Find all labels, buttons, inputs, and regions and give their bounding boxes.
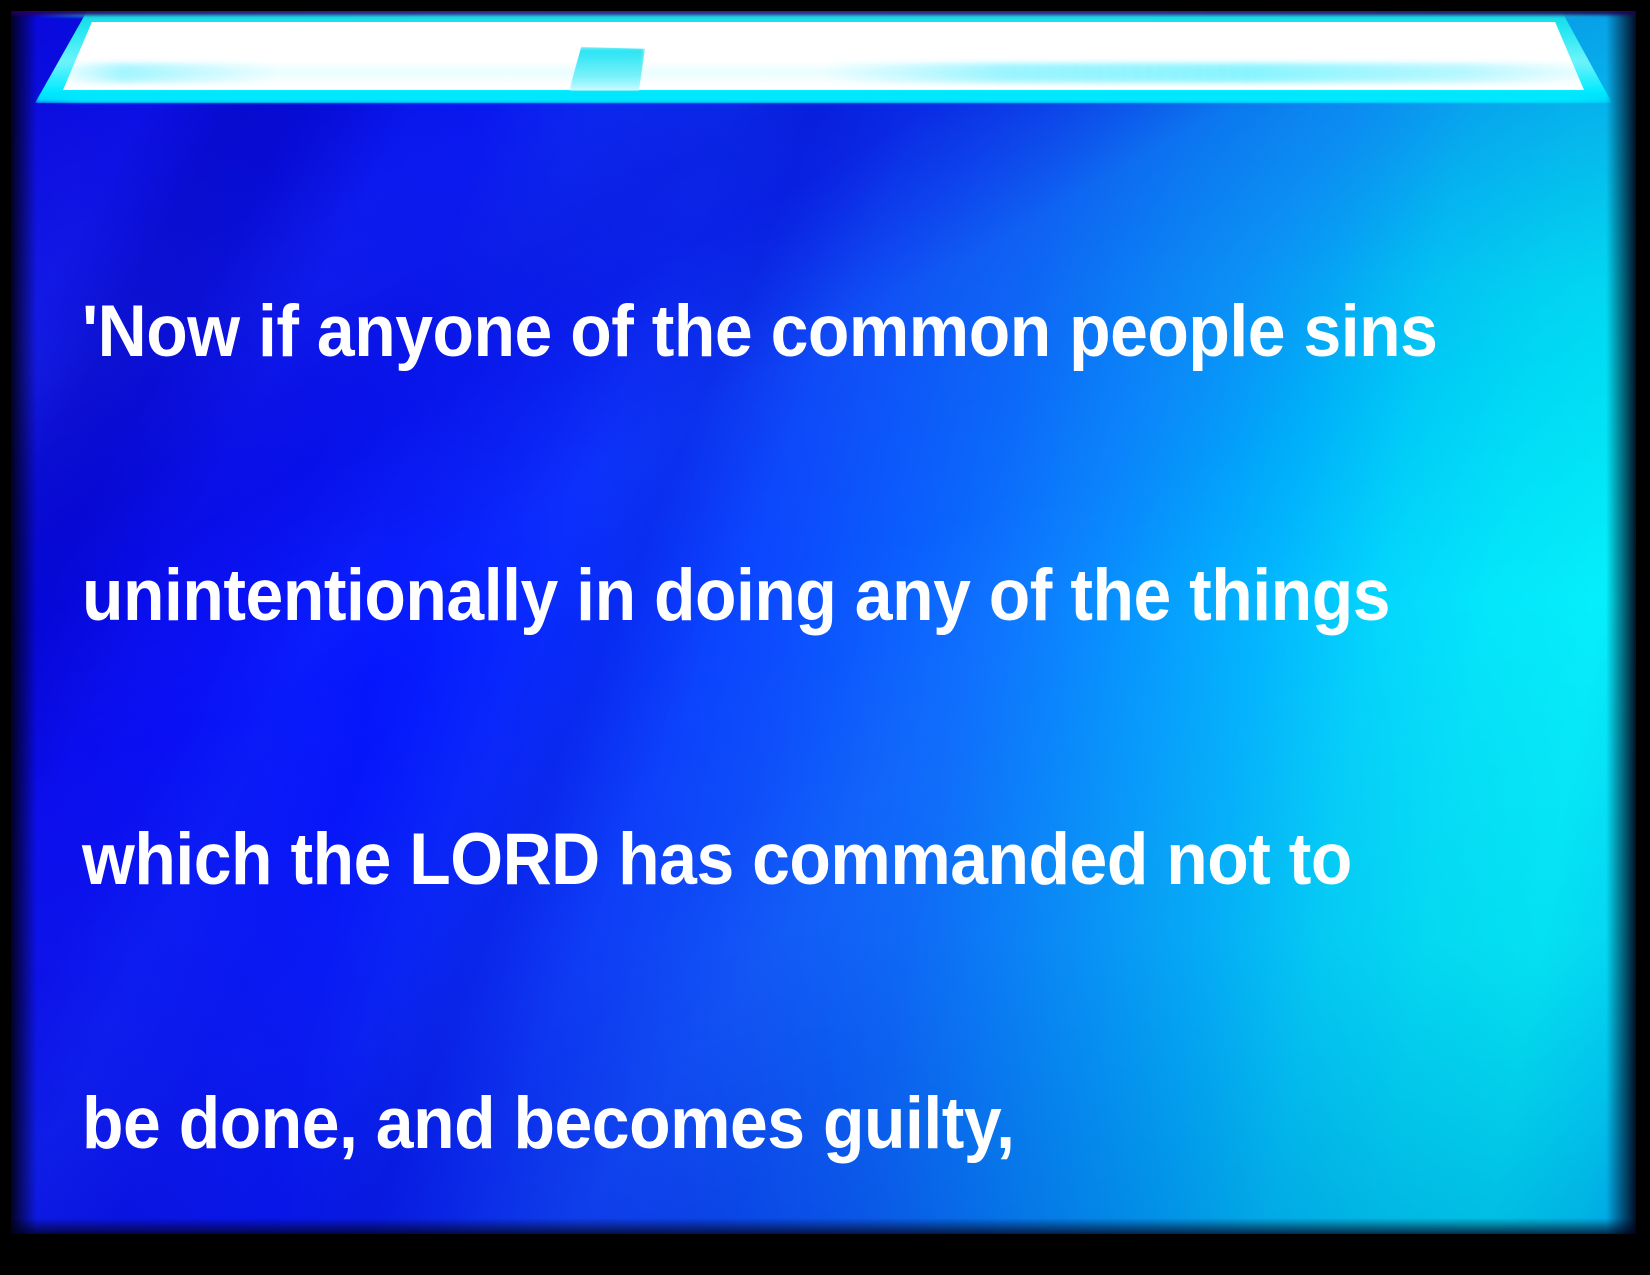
verse-line-1: 'Now if anyone of the common people sins bbox=[82, 288, 1449, 376]
frame-border-top bbox=[0, 0, 1650, 11]
banner-cyan-notch bbox=[569, 47, 645, 91]
top-banner bbox=[11, 11, 1636, 116]
banner-bottom-keyline bbox=[35, 95, 1612, 102]
verse-line-3: which the LORD has commanded not to bbox=[82, 816, 1449, 904]
banner-cyan-haze bbox=[63, 63, 1584, 83]
verse-line-2: unintentionally in doing any of the thin… bbox=[82, 552, 1449, 640]
verse-text-block: 'Now if anyone of the common people sins… bbox=[82, 112, 1449, 1275]
frame-border-left bbox=[0, 0, 11, 1275]
frame-border-right bbox=[1636, 0, 1650, 1275]
verse-line-4: be done, and becomes guilty, bbox=[82, 1080, 1449, 1168]
bible-verse-slide: 'Now if anyone of the common people sins… bbox=[0, 0, 1650, 1275]
